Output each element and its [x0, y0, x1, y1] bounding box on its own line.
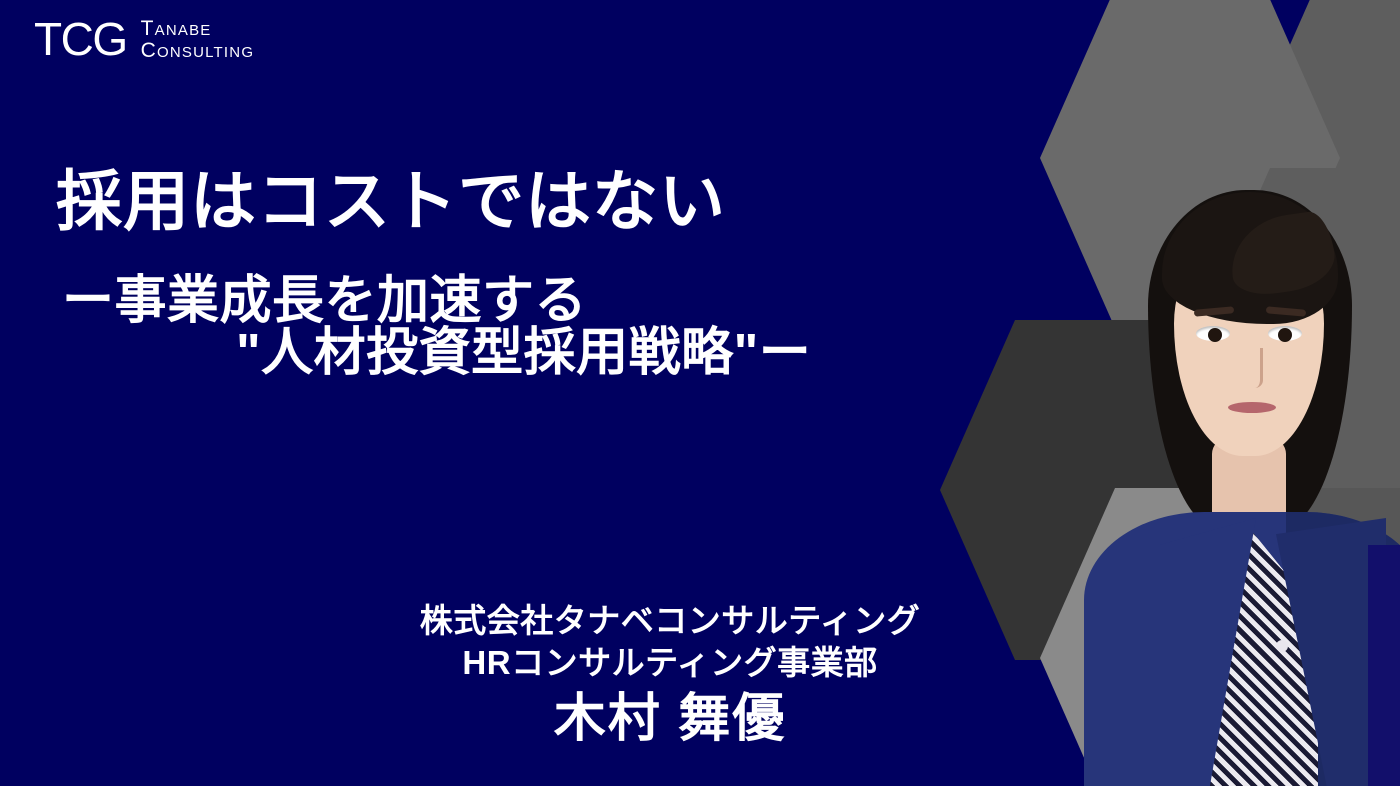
portrait-pupil-right — [1278, 328, 1292, 342]
speaker-name: 木村 舞優 — [300, 688, 1040, 750]
portrait-button — [1276, 640, 1288, 652]
tcg-logo: TCG TANABE CONSULTING — [34, 16, 254, 62]
slide-subtitle-line2: "人材投資型採用戦略"ー — [236, 310, 811, 385]
logo-word-consulting: CONSULTING — [141, 40, 255, 62]
title-slide: TCG TANABE CONSULTING 採用はコストではない ー事業成長を加… — [0, 0, 1400, 786]
speaker-department: HRコンサルティング事業部 — [300, 642, 1040, 684]
right-navy-edge-strip — [1368, 545, 1400, 786]
speaker-credit-block: 株式会社タナベコンサルティング HRコンサルティング事業部 木村 舞優 — [300, 600, 1040, 751]
logo-word-tanabe: TANABE — [141, 18, 255, 40]
logo-monogram: TCG — [34, 16, 127, 62]
speaker-portrait-photo — [1090, 120, 1400, 786]
speaker-company: 株式会社タナベコンサルティング — [300, 600, 1040, 642]
portrait-pupil-left — [1208, 328, 1222, 342]
portrait-nose — [1242, 348, 1263, 388]
portrait-mouth — [1228, 402, 1276, 413]
logo-wordmark: TANABE CONSULTING — [141, 16, 255, 62]
slide-title-main: 採用はコストではない — [56, 148, 726, 244]
